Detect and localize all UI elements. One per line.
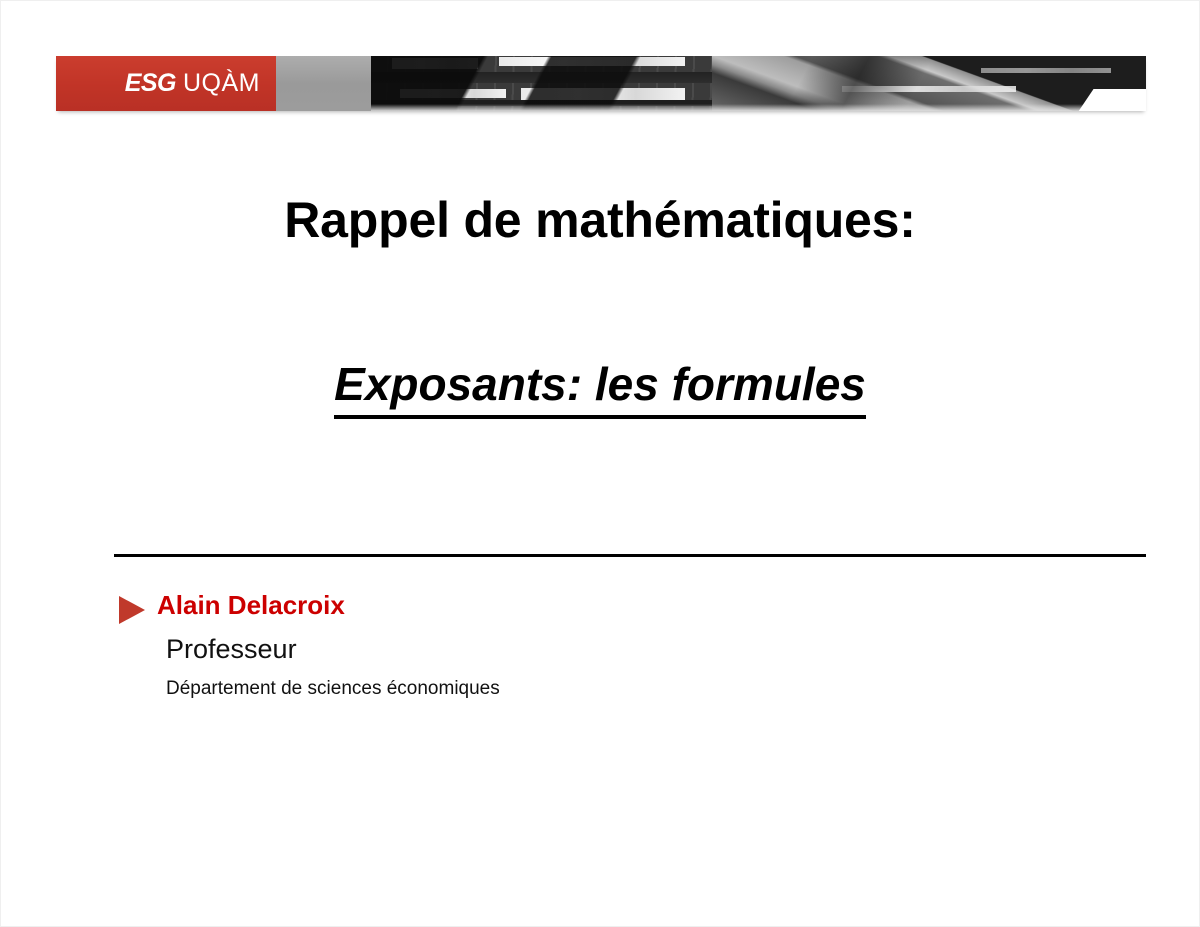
slide-title: Rappel de mathématiques: (1, 193, 1199, 248)
author-name: Alain Delacroix (157, 591, 345, 621)
esg-uqam-logo[interactable]: ESGUQÀM (56, 56, 276, 111)
author-role: Professeur (166, 634, 819, 665)
logo-uqam-text: UQÀM (183, 69, 260, 97)
slide-subtitle-text: Exposants: les formules (334, 359, 866, 419)
slide-subtitle: Exposants: les formules (1, 359, 1199, 419)
photo-bottom-fade (371, 104, 1146, 111)
author-name-row: Alain Delacroix (119, 591, 819, 624)
logo-esg-text: ESG (125, 69, 176, 97)
author-department: Département de sciences économiques (166, 678, 819, 701)
photo-diagonal-shadows (371, 56, 1146, 111)
logo-text: ESGUQÀM (125, 71, 260, 96)
author-block: Alain Delacroix Professeur Département d… (119, 591, 819, 701)
banner-building-photo (371, 56, 1146, 111)
triangle-right-icon (119, 596, 145, 624)
presentation-slide: ESGUQÀM Rappel de mathématiques: (0, 0, 1200, 927)
horizontal-divider (114, 554, 1146, 557)
banner-gray-panel (276, 56, 371, 111)
header-banner: ESGUQÀM (56, 56, 1146, 111)
